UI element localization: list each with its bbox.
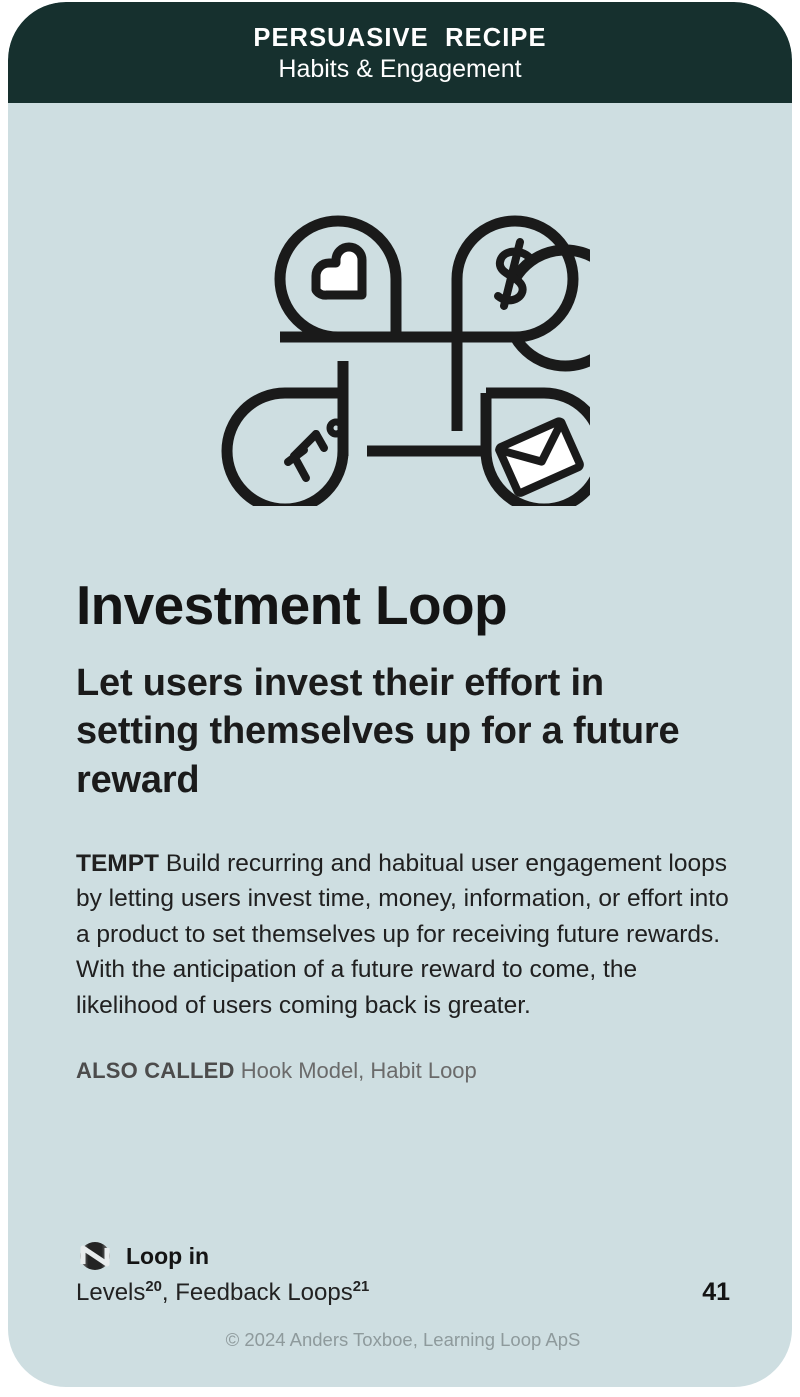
reference-item-label[interactable]: Feedback Loops <box>175 1279 352 1306</box>
references-text: Levels20, Feedback Loops21 <box>76 1279 369 1307</box>
also-called-label: ALSO CALLED <box>76 1058 235 1083</box>
pattern-card: PERSUASIVE RECIPE Habits & Engagement <box>8 2 792 1387</box>
card-content: Investment Loop Let users invest their e… <box>76 577 730 1084</box>
gauge-pin-icon <box>288 422 342 478</box>
card-footer: Loop in Levels20, Feedback Loops21 41 © … <box>76 1242 730 1351</box>
loop-in-row: Loop in <box>76 1242 730 1270</box>
reference-item-note: 21 <box>353 1279 370 1295</box>
pattern-description: TEMPT Build recurring and habitual user … <box>76 846 730 1024</box>
card-header: PERSUASIVE RECIPE Habits & Engagement <box>8 2 792 103</box>
investment-loop-illustration <box>8 106 792 546</box>
card-category-subtitle: Habits & Engagement <box>278 55 521 84</box>
also-called-row: ALSO CALLED Hook Model, Habit Loop <box>76 1058 730 1084</box>
pattern-body-text: Build recurring and habitual user engage… <box>76 850 729 1019</box>
envelope-icon <box>498 420 580 493</box>
also-called-values: Hook Model, Habit Loop <box>235 1058 477 1083</box>
reference-item-note: 20 <box>145 1279 162 1295</box>
pattern-subtitle: Let users invest their effort in setting… <box>76 659 730 805</box>
heart-icon <box>316 247 362 295</box>
card-category-kicker: PERSUASIVE RECIPE <box>253 25 546 52</box>
reference-item-label[interactable]: Levels <box>76 1279 145 1306</box>
pattern-title: Investment Loop <box>76 577 730 635</box>
loop-logo-icon <box>76 1242 114 1270</box>
pattern-body-lead: TEMPT <box>76 850 159 877</box>
loop-in-label: Loop in <box>126 1243 209 1270</box>
references-row: Levels20, Feedback Loops21 41 <box>76 1278 730 1307</box>
copyright-notice: © 2024 Anders Toxboe, Learning Loop ApS <box>76 1329 730 1351</box>
page-number: 41 <box>702 1278 730 1307</box>
